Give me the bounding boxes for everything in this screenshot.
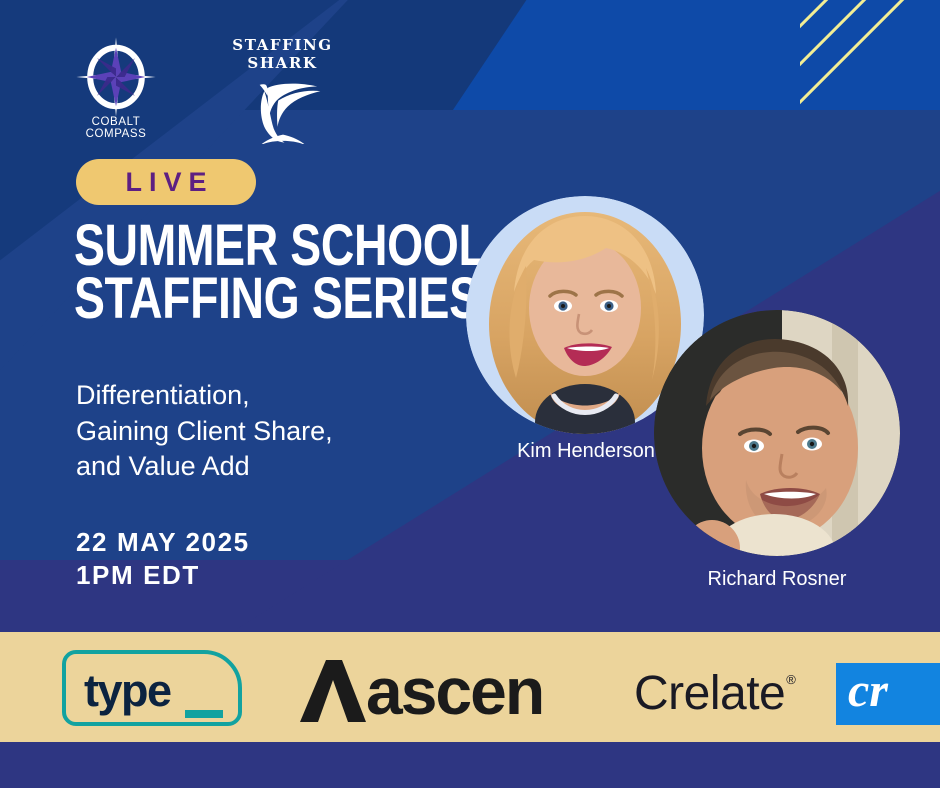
live-badge: LIVE [76, 159, 256, 205]
staffing-shark-logo: STAFFING SHARK [205, 36, 360, 144]
compass-rose-icon [73, 34, 159, 120]
subtitle: Differentiation, Gaining Client Share, a… [76, 378, 476, 485]
headline-line-2: STAFFING SERIES [74, 272, 410, 325]
sponsor-crelate-wordmark: Crelate [634, 670, 785, 718]
speaker-richard-rosner: Richard Rosner [654, 310, 900, 591]
event-date: 22 MAY 2025 [76, 526, 250, 559]
subtitle-line-2: Gaining Client Share, [76, 414, 476, 450]
registered-trademark-icon: ® [786, 672, 796, 687]
cobalt-compass-wordmark: COBALT COMPASS [68, 116, 164, 140]
sponsor-logo-crelate-mark: cr [836, 663, 940, 725]
speaker-photo-richard-rosner [654, 310, 900, 556]
sponsor-type-wordmark: type [84, 668, 171, 713]
brand-logo-row: COBALT COMPASS STAFFING SHARK [0, 26, 420, 146]
diagonal-stripes-decoration [800, 0, 940, 236]
sponsor-cr-wordmark: cr [848, 665, 888, 718]
underscore-icon [185, 710, 223, 718]
subtitle-line-3: and Value Add [76, 449, 476, 485]
sponsor-bar: type ascen Crelate ® cr [0, 632, 940, 742]
speaker-name: Richard Rosner [654, 568, 900, 591]
shark-icon [235, 74, 331, 144]
webinar-promo-poster: COBALT COMPASS STAFFING SHARK LIVE SUMME… [0, 0, 940, 788]
subtitle-line-1: Differentiation, [76, 378, 476, 414]
event-time: 1PM EDT [76, 559, 250, 592]
background-indigo-footer [0, 742, 940, 788]
avatar [654, 310, 900, 556]
sponsor-logo-ascen: ascen [292, 656, 543, 726]
cobalt-compass-logo: COBALT COMPASS [68, 34, 164, 140]
live-badge-label: LIVE [118, 167, 213, 198]
ascen-lambda-icon [292, 656, 366, 726]
sponsor-logo-crelate: Crelate ® [634, 670, 796, 718]
sponsor-logo-type: type [62, 650, 242, 726]
staffing-shark-wordmark: STAFFING SHARK [205, 36, 360, 72]
page-title: SUMMER SCHOOL STAFFING SERIES [74, 219, 410, 326]
event-datetime: 22 MAY 2025 1PM EDT [76, 526, 250, 591]
sponsor-ascen-wordmark: ascen [366, 658, 543, 724]
